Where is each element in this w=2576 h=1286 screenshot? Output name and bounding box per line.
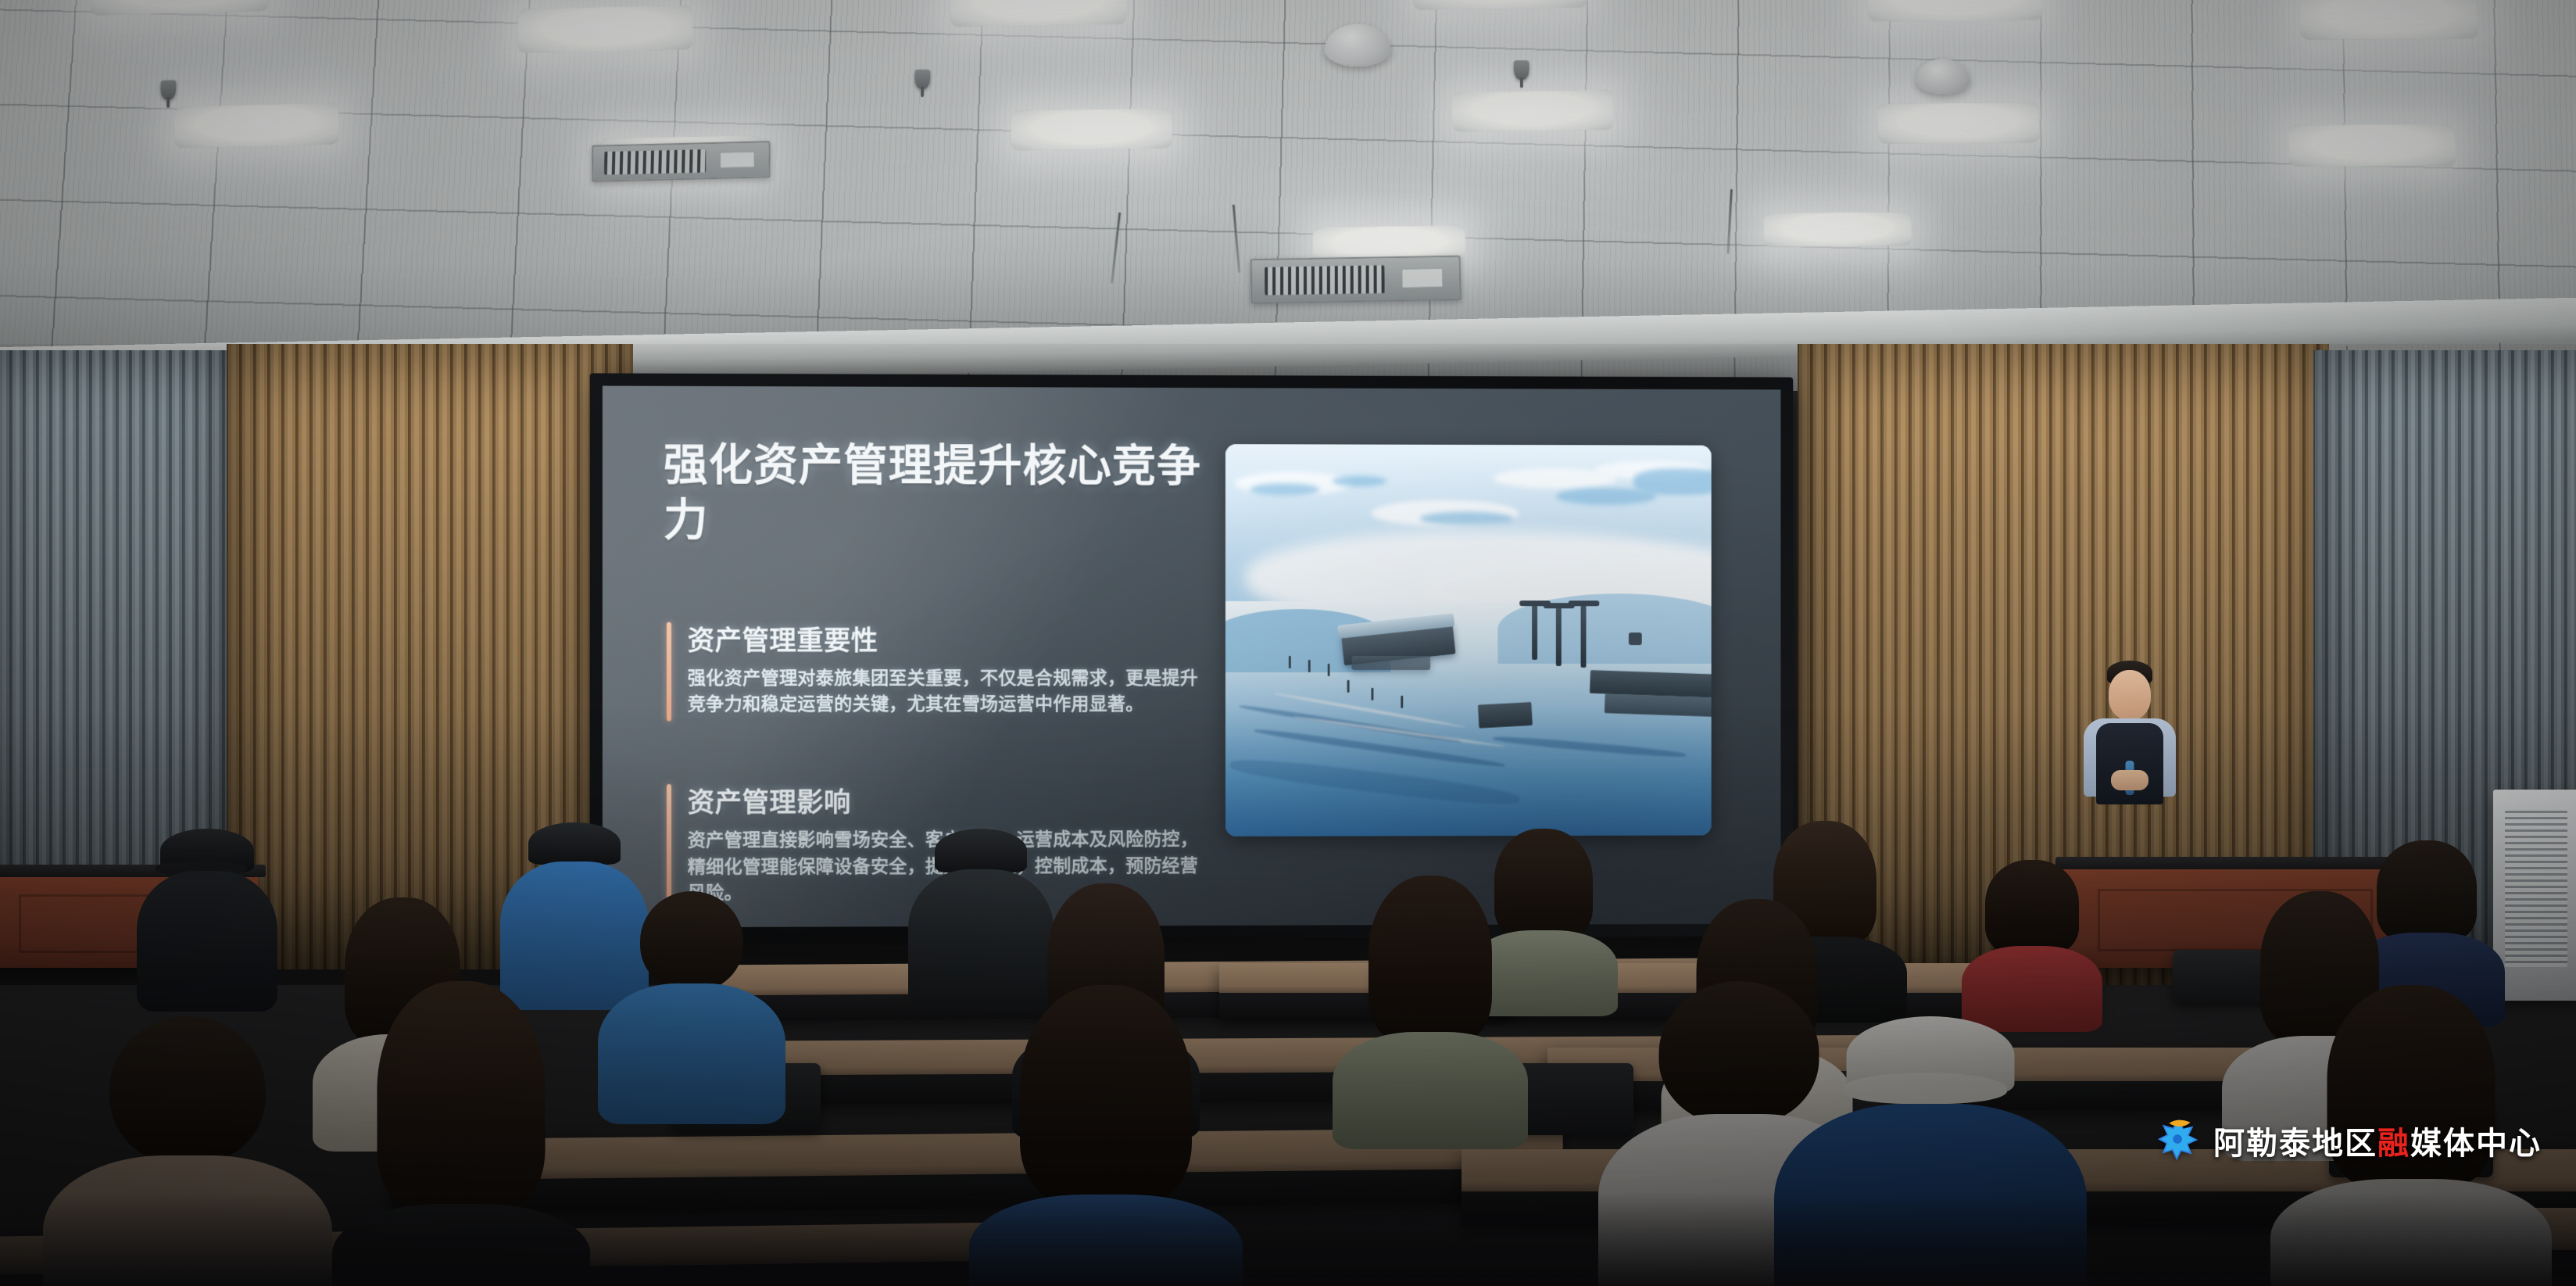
equipment-cabinet <box>2493 790 2576 1001</box>
audience-hair <box>1368 876 1492 1044</box>
cabinet-grille <box>2505 811 2567 967</box>
presenter <box>2063 661 2196 872</box>
audience-hair <box>377 981 546 1216</box>
audience-torso <box>1774 1104 2087 1286</box>
cloud <box>1420 511 1513 525</box>
audience-hair <box>1494 829 1593 940</box>
audience-member <box>625 891 758 1110</box>
audience-member <box>1829 1016 2032 1286</box>
black-cap <box>935 829 1027 872</box>
black-cap <box>528 822 621 865</box>
fence-post <box>1289 656 1291 668</box>
watermark-text-before: 阿勒泰地区 <box>2213 1127 2377 1161</box>
fence-post <box>1328 664 1330 676</box>
audience-hair <box>2377 840 2477 942</box>
section-body: 强化资产管理对泰旅集团至关重要，不仅是合规需求，更是提升竞争力和稳定运营的关键，… <box>688 665 1212 718</box>
audience-head <box>109 1016 266 1165</box>
audience-torso <box>969 1195 1243 1286</box>
cap-brim <box>1843 1073 2007 1104</box>
audience-torso <box>332 1204 590 1286</box>
watermark-text-highlight: 融 <box>2377 1127 2410 1161</box>
audience-head <box>1659 981 1819 1126</box>
section-accent-bar <box>667 622 671 722</box>
slide-image-ski-resort <box>1225 444 1712 836</box>
audience-member <box>516 822 633 1002</box>
gondola-tower <box>1532 605 1537 660</box>
audience-torso <box>43 1155 332 1286</box>
presenter-head <box>2109 670 2151 720</box>
fence-post <box>1372 688 1374 700</box>
podium-top-edge <box>2055 857 2415 869</box>
audience-hair <box>1985 860 2079 954</box>
audience-head <box>640 891 743 991</box>
audience-torso <box>1333 1032 1528 1149</box>
audience-member <box>148 829 266 1001</box>
audience-member <box>1485 829 1602 1005</box>
fence-post <box>1347 680 1350 693</box>
watermark-text-after: 媒体中心 <box>2410 1127 2542 1161</box>
conference-room-photo: 强化资产管理提升核心竞争力 资产管理重要性 强化资产管理对泰旅集团至关重要，不仅… <box>0 0 2576 1286</box>
gondola-cabin <box>1629 632 1642 645</box>
gondola-tower <box>1556 607 1562 666</box>
audience-hair <box>1020 985 1192 1204</box>
resort-building <box>1605 693 1712 717</box>
section-heading: 资产管理影响 <box>688 780 1212 819</box>
audience-torso <box>137 871 277 1012</box>
slide-title: 强化资产管理提升核心竞争力 <box>664 438 1209 548</box>
cloud-bank <box>1633 469 1711 496</box>
audience-member <box>1360 876 1501 1110</box>
audience-member <box>922 829 1039 1001</box>
lodge-base <box>1352 656 1430 670</box>
fence-post <box>1401 696 1403 708</box>
audience-member <box>1977 860 2087 1016</box>
fence-post <box>1308 660 1311 672</box>
audience-torso <box>2270 1179 2552 1286</box>
presenter-hands <box>2111 770 2148 790</box>
audience-torso <box>598 983 785 1124</box>
audience-member <box>367 981 555 1286</box>
presentation-slide: 强化资产管理提升核心竞争力 资产管理重要性 强化资产管理对泰旅集团至关重要，不仅… <box>603 386 1781 928</box>
section-heading: 资产管理重要性 <box>688 619 1212 657</box>
resort-building <box>1478 702 1533 729</box>
slide-section-1: 资产管理重要性 强化资产管理对泰旅集团至关重要，不仅是合规需求，更是提升竞争力和… <box>667 619 1212 718</box>
audience-member <box>1008 985 1204 1286</box>
audience-member <box>94 1016 281 1286</box>
projection-screen: 强化资产管理提升核心竞争力 资产管理重要性 强化资产管理对泰旅集团至关重要，不仅… <box>590 373 1794 940</box>
star-logo-icon <box>2156 1116 2204 1165</box>
desk-front <box>391 1168 1563 1215</box>
gondola-tower <box>1580 605 1586 668</box>
watermark-text: 阿勒泰地区融媒体中心 <box>2213 1118 2542 1163</box>
watermark: 阿勒泰地区融媒体中心 <box>2156 1116 2542 1165</box>
